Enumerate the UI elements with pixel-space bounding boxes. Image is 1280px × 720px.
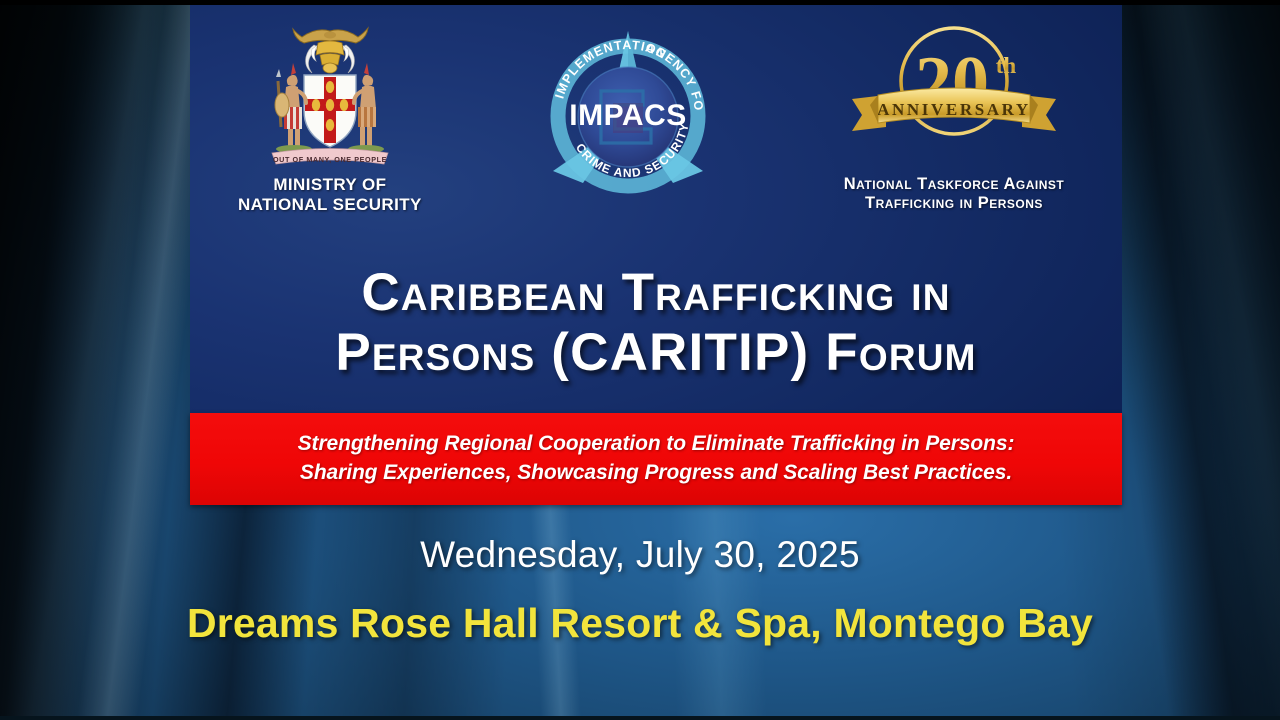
page-title: Caribbean Trafficking in Persons (CARITI… <box>190 263 1122 383</box>
anniversary-ribbon-text: ANNIVERSARY <box>877 100 1031 119</box>
impacs-wordmark: IMPACS <box>569 99 686 132</box>
twentieth-anniversary-ribbon-icon: 20 th ANNIVERSARY <box>834 19 1074 171</box>
logo-ministry-of-national-security: OUT OF MANY, ONE PEOPLE MINISTRY OF NATI… <box>238 19 422 215</box>
letterbox-bar-bottom <box>0 716 1280 720</box>
coat-of-arms-motto: OUT OF MANY, ONE PEOPLE <box>273 155 387 164</box>
letterbox-bar-top <box>0 0 1280 5</box>
event-venue: Dreams Rose Hall Resort & Spa, Montego B… <box>0 600 1280 647</box>
logo-caption-ministry: MINISTRY OF NATIONAL SECURITY <box>238 175 422 215</box>
event-banner-panel: OUT OF MANY, ONE PEOPLE MINISTRY OF NATI… <box>190 5 1122 413</box>
event-date: Wednesday, July 30, 2025 <box>0 534 1280 576</box>
logo-impacs: IMPLEMENTATION AGENCY FOR CRIME AND SECU… <box>539 19 717 199</box>
logo-caption-nattip: National Taskforce Against Trafficking i… <box>844 175 1065 214</box>
anniversary-ordinal: th <box>996 53 1017 78</box>
title-line-1: Caribbean Trafficking in <box>216 263 1096 323</box>
logo-nattip-anniversary: 20 th ANNIVERSARY National Taskforce Aga… <box>834 19 1074 214</box>
impacs-logo-icon: IMPLEMENTATION AGENCY FOR CRIME AND SECU… <box>539 21 717 199</box>
video-title-card: OUT OF MANY, ONE PEOPLE MINISTRY OF NATI… <box>0 0 1280 720</box>
tagline-line-1: Strengthening Regional Cooperation to El… <box>298 430 1015 459</box>
logo-row: OUT OF MANY, ONE PEOPLE MINISTRY OF NATI… <box>190 19 1122 239</box>
jamaica-coat-of-arms-icon: OUT OF MANY, ONE PEOPLE <box>264 19 396 169</box>
tagline-line-2: Sharing Experiences, Showcasing Progress… <box>300 459 1012 488</box>
title-line-2: Persons (CARITIP) Forum <box>216 323 1096 383</box>
tagline-banner: Strengthening Regional Cooperation to El… <box>190 413 1122 505</box>
